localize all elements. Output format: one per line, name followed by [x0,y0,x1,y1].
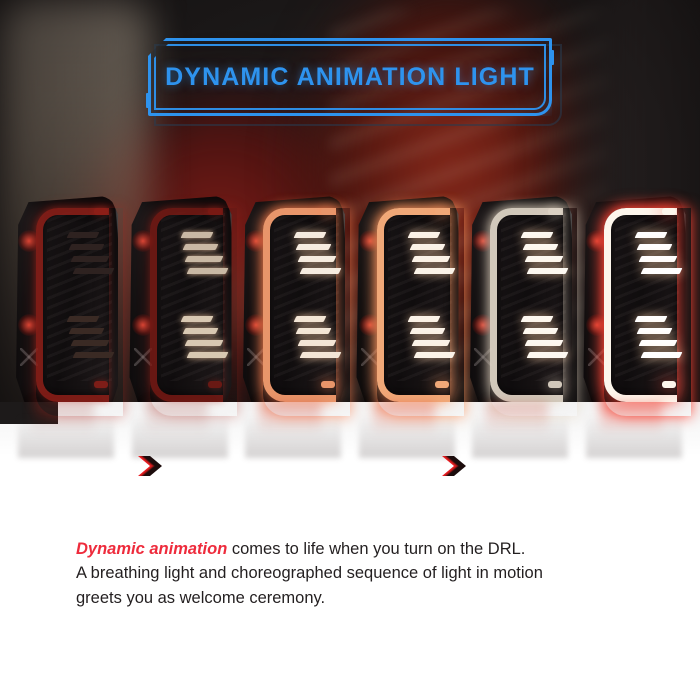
turn-signal-slats-lower [636,316,676,364]
light-guide-arm-bottom [548,381,562,388]
copy-line-1-rest: comes to life when you turn on the DRL. [227,540,525,558]
turn-signal-slat [407,232,440,238]
turn-signal-slat [73,352,115,358]
turn-signal-slat [186,268,228,274]
light-guide-arm-bottom [435,381,449,388]
turn-signal-slat [640,268,682,274]
tail-light-sequence [0,196,700,426]
tail-light-unit [468,196,572,402]
tail-light-unit [241,196,345,402]
turn-signal-slat [71,340,110,346]
turn-signal-slat [527,352,569,358]
light-guide-arm-top [208,208,222,215]
turn-signal-slat [411,256,450,262]
turn-signal-slat [294,232,327,238]
turn-signal-slats-lower [68,316,108,364]
tail-light-unit [14,196,118,402]
turn-signal-slat [521,232,554,238]
turn-signal-slat [296,244,332,250]
lamp-floor-red-glow [146,402,208,442]
light-guide-arm-bottom [94,381,108,388]
turn-signal-slat [525,340,564,346]
copy-line-3: greets you as welcome ceremony. [76,586,646,610]
turn-signal-slats-upper [409,232,449,280]
turn-signal-slat [636,328,672,334]
light-guide-arm-top [94,208,108,215]
turn-signal-slat [182,328,218,334]
turn-signal-slat [409,244,445,250]
lens-x-mark-icon [588,348,606,366]
turn-signal-slat [300,352,342,358]
lamp-floor-red-glow [259,402,321,442]
turn-signal-slat [638,340,677,346]
light-guide-arm-top [662,208,676,215]
turn-signal-slats-upper [182,232,222,280]
turn-signal-slat [294,316,327,322]
turn-signal-slat [413,352,455,358]
page-title: DYNAMIC ANIMATION LIGHT [148,38,552,116]
turn-signal-slats-upper [295,232,335,280]
turn-signal-slat [640,352,682,358]
lamp-floor-red-glow [32,402,94,442]
turn-signal-slat [634,316,667,322]
turn-signal-slats-lower [182,316,222,364]
copy-line-1: Dynamic animation comes to life when you… [76,537,646,561]
light-guide-arm-bottom [321,381,335,388]
turn-signal-slat [638,256,677,262]
lens-x-mark-icon [134,348,152,366]
description-copy: Dynamic animation comes to life when you… [76,537,646,610]
turn-signal-slat [69,244,105,250]
product-marketing-slide: DYNAMIC ANIMATION LIGHT Dynamic animatio… [0,0,700,700]
tail-light-unit [355,196,459,402]
turn-signal-slats-upper [636,232,676,280]
turn-signal-slat [521,316,554,322]
turn-signal-slat [186,352,228,358]
turn-signal-slat [180,232,213,238]
turn-signal-slat [71,256,110,262]
turn-signal-slat [180,316,213,322]
turn-signal-slat [298,256,337,262]
light-guide-arm-top [321,208,335,215]
turn-signal-slat [300,268,342,274]
lamp-floor-red-glow [600,402,662,442]
light-guide-arm-bottom [208,381,222,388]
turn-signal-slat [634,232,667,238]
turn-signal-slats-lower [522,316,562,364]
turn-signal-slat [69,328,105,334]
turn-signal-slat [636,244,672,250]
turn-signal-slats-upper [68,232,108,280]
turn-signal-slat [67,316,100,322]
turn-signal-slat [525,256,564,262]
lens-x-mark-icon [361,348,379,366]
tail-light-unit [582,196,686,402]
turn-signal-slats-upper [522,232,562,280]
turn-signal-slat [409,328,445,334]
copy-line-2: A breathing light and choreographed sequ… [76,561,646,585]
copy-highlight: Dynamic animation [76,540,227,558]
light-guide-arm-bottom [662,381,676,388]
turn-signal-slat [298,340,337,346]
turn-signal-slat [523,244,559,250]
turn-signal-slat [527,268,569,274]
tail-light-unit [128,196,232,402]
turn-signal-slats-lower [295,316,335,364]
turn-signal-slat [73,268,115,274]
turn-signal-slat [523,328,559,334]
lamp-floor-red-glow [373,402,435,442]
light-guide-arm-top [435,208,449,215]
turn-signal-slat [296,328,332,334]
turn-signal-slat [407,316,440,322]
turn-signal-slat [184,256,223,262]
lamp-floor-red-glow [486,402,548,442]
turn-signal-slat [413,268,455,274]
turn-signal-slat [411,340,450,346]
turn-signal-slats-lower [409,316,449,364]
turn-signal-slat [184,340,223,346]
light-guide-arm-top [548,208,562,215]
title-banner: DYNAMIC ANIMATION LIGHT [148,38,552,116]
turn-signal-slat [67,232,100,238]
turn-signal-slat [182,244,218,250]
